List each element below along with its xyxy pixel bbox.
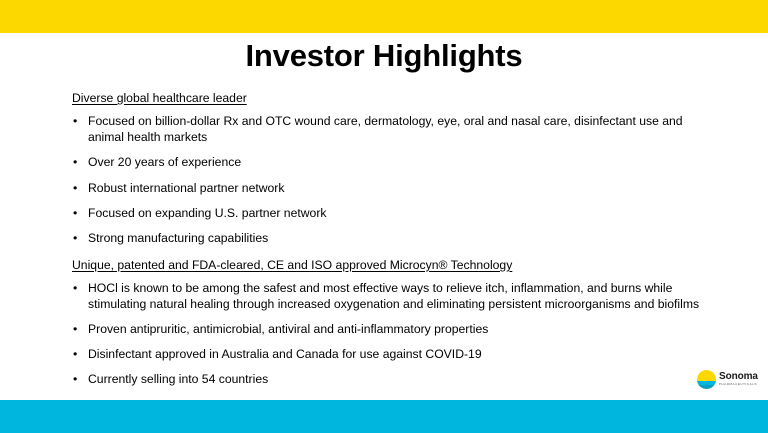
top-accent-band (0, 0, 768, 33)
list-item: • Disinfectant approved in Australia and… (72, 346, 720, 362)
list-item: • HOCl is known to be among the safest a… (72, 280, 720, 312)
list-item: • Focused on billion-dollar Rx and OTC w… (72, 113, 720, 145)
section-microcyn-technology: Unique, patented and FDA-cleared, CE and… (72, 256, 720, 388)
list-item: • Robust international partner network (72, 180, 720, 196)
list-item-text: HOCl is known to be among the safest and… (88, 281, 699, 311)
bottom-accent-band (0, 400, 768, 433)
section-heading: Diverse global healthcare leader (72, 91, 247, 106)
bullet-icon: • (73, 230, 77, 246)
list-item: • Proven antipruritic, antimicrobial, an… (72, 321, 720, 337)
list-item: • Over 20 years of experience (72, 154, 720, 170)
list-item: • Strong manufacturing capabilities (72, 230, 720, 246)
list-item-text: Proven antipruritic, antimicrobial, anti… (88, 322, 488, 336)
slide-body: Diverse global healthcare leader • Focus… (72, 89, 720, 388)
list-item: • Currently selling into 54 countries (72, 371, 720, 387)
list-item-text: Robust international partner network (88, 181, 284, 195)
slide-canvas: Investor Highlights Diverse global healt… (0, 0, 768, 433)
bullet-icon: • (73, 154, 77, 170)
bullet-icon: • (73, 321, 77, 337)
bullet-list: • HOCl is known to be among the safest a… (72, 280, 720, 387)
bullet-icon: • (73, 371, 77, 387)
bullet-list: • Focused on billion-dollar Rx and OTC w… (72, 113, 720, 246)
list-item: • Focused on expanding U.S. partner netw… (72, 205, 720, 221)
bullet-icon: • (73, 346, 77, 362)
logo-band-teal (697, 385, 716, 389)
logo-wordmark: Sonoma (719, 372, 758, 382)
sonoma-logo: Sonoma PHARMACEUTICALS (697, 367, 763, 391)
sonoma-circle-icon (697, 370, 716, 389)
bullet-icon: • (73, 280, 77, 296)
list-item-text: Over 20 years of experience (88, 155, 241, 169)
page-title: Investor Highlights (0, 39, 768, 73)
bullet-icon: • (73, 180, 77, 196)
section-diverse-global-healthcare-leader: Diverse global healthcare leader • Focus… (72, 89, 720, 246)
list-item-text: Currently selling into 54 countries (88, 372, 268, 386)
list-item-text: Focused on expanding U.S. partner networ… (88, 206, 326, 220)
logo-tagline: PHARMACEUTICALS (719, 383, 758, 386)
section-heading-wrap: Unique, patented and FDA-cleared, CE and… (72, 256, 720, 280)
bullet-icon: • (73, 113, 77, 129)
section-heading: Unique, patented and FDA-cleared, CE and… (72, 258, 512, 273)
list-item-text: Strong manufacturing capabilities (88, 231, 268, 245)
section-heading-wrap: Diverse global healthcare leader (72, 89, 720, 113)
bullet-icon: • (73, 205, 77, 221)
logo-text-block: Sonoma PHARMACEUTICALS (719, 372, 758, 387)
list-item-text: Focused on billion-dollar Rx and OTC wou… (88, 114, 683, 144)
list-item-text: Disinfectant approved in Australia and C… (88, 347, 482, 361)
